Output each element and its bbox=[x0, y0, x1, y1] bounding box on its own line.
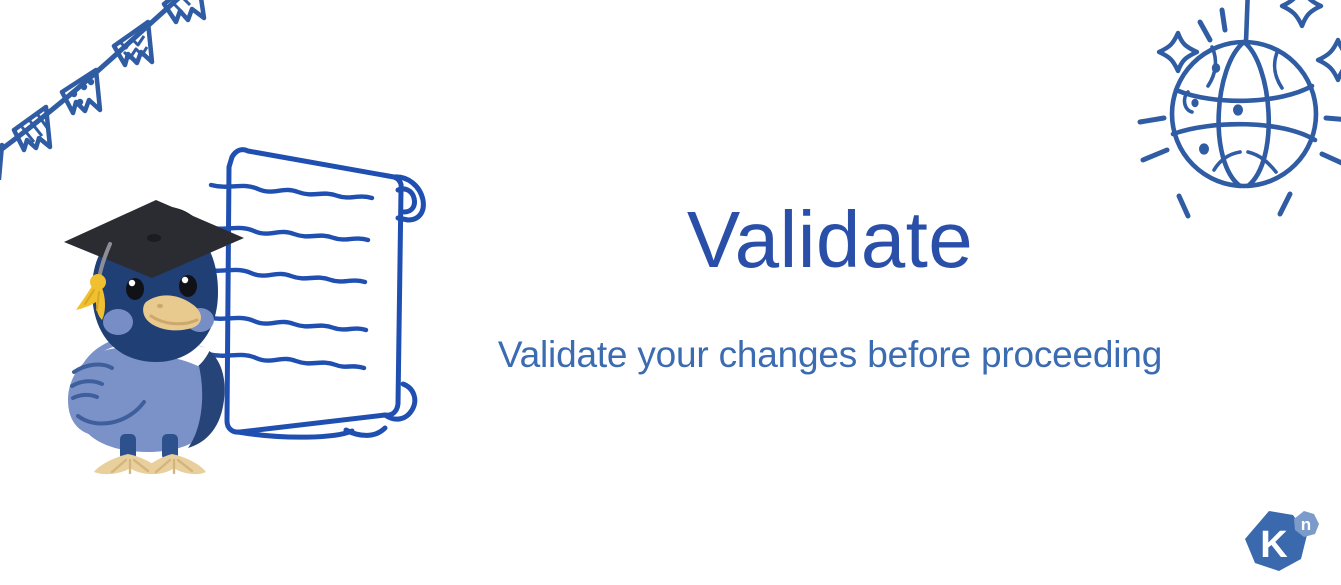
disco-ball-rays bbox=[1140, 10, 1341, 216]
mascot-legs bbox=[94, 434, 206, 474]
bunting-flag-lines bbox=[164, 0, 204, 22]
disco-ball-tiles bbox=[1191, 63, 1243, 154]
mascot-beak bbox=[143, 295, 201, 330]
sparkle-icon bbox=[1159, 0, 1341, 80]
bunting-flag bbox=[0, 145, 2, 180]
tassel bbox=[76, 274, 106, 320]
graduate-bird-mascot bbox=[52, 186, 252, 476]
graduation-cap-icon bbox=[64, 200, 244, 320]
hero-text-block: Validate Validate your changes before pr… bbox=[440, 200, 1220, 373]
bunting-flag-dots bbox=[62, 70, 100, 113]
scroll-text-lines bbox=[203, 185, 372, 368]
page-title: Validate bbox=[440, 200, 1220, 280]
certificate-scroll-decoration bbox=[176, 132, 476, 462]
disco-ball-decoration bbox=[1122, 0, 1341, 230]
mascot-body bbox=[74, 334, 225, 452]
mascot-eyes bbox=[126, 275, 197, 300]
brand-logo: K n bbox=[1235, 505, 1321, 577]
bunting-flag-zigzag bbox=[114, 22, 152, 65]
mascot-head bbox=[92, 218, 218, 362]
mascot-wing bbox=[68, 348, 158, 436]
bunting-flag-stripes bbox=[14, 107, 50, 150]
validate-splash-screen: Validate Validate your changes before pr… bbox=[0, 0, 1341, 585]
logo-letter-k: K bbox=[1260, 524, 1288, 566]
logo-badge-letter-n: n bbox=[1301, 515, 1311, 534]
page-subtitle: Validate your changes before proceeding bbox=[440, 336, 1220, 373]
party-bunting-decoration bbox=[0, 0, 232, 180]
